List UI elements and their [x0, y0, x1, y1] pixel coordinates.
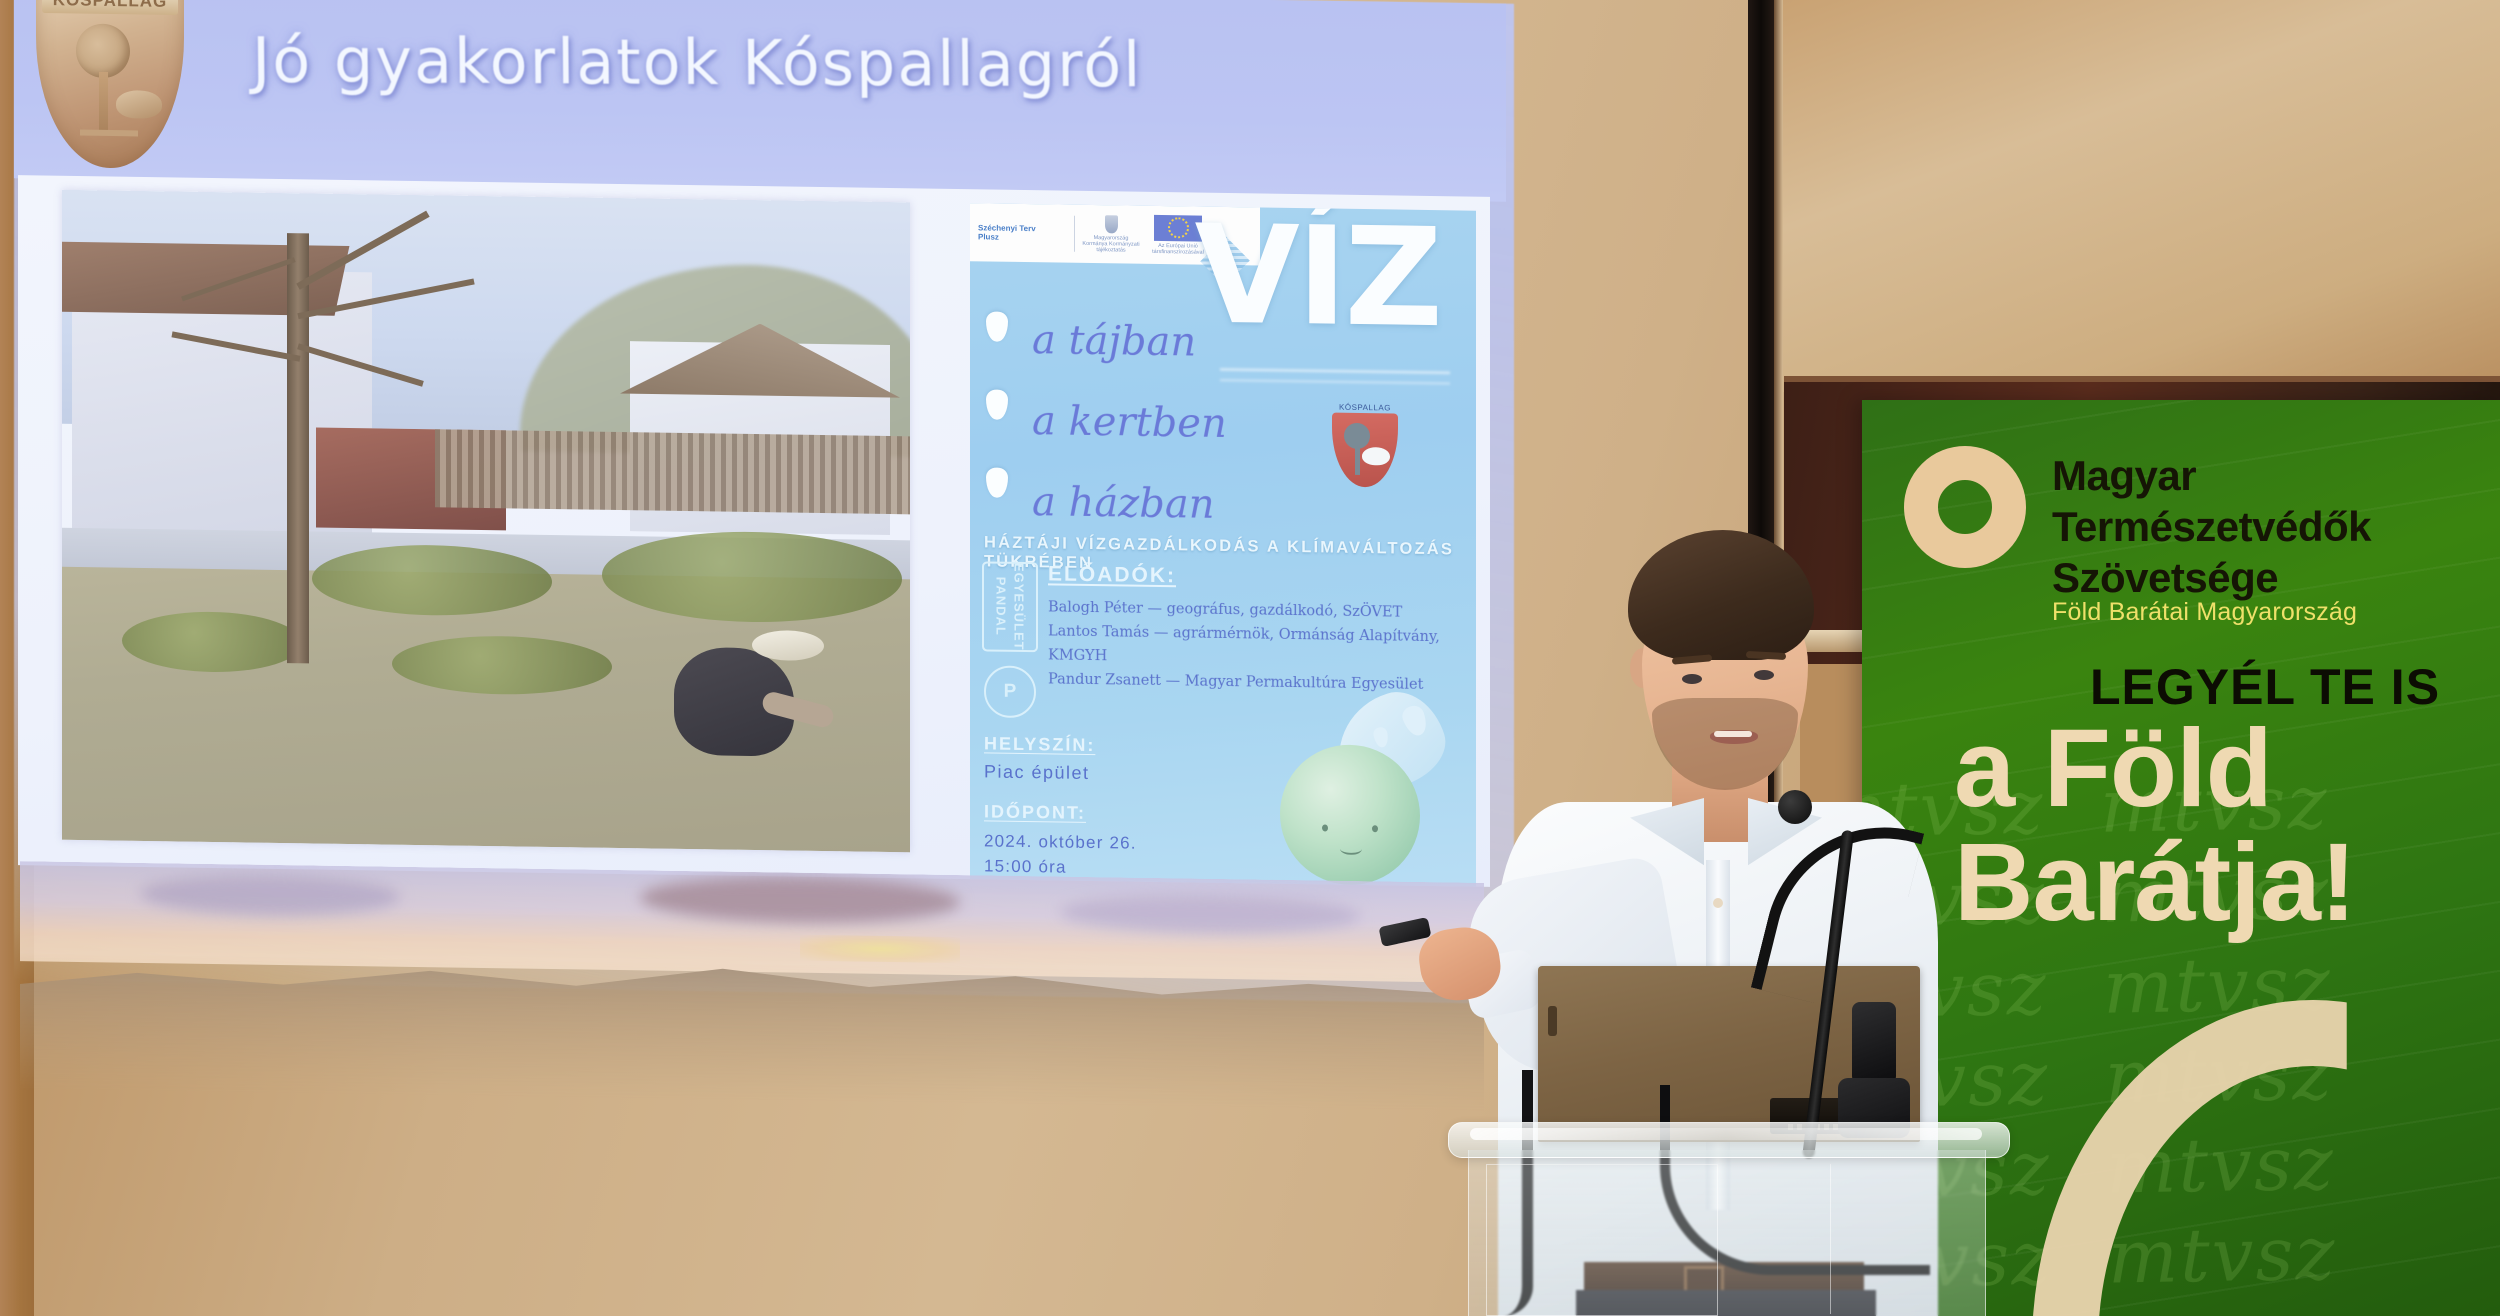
banner-organization-name: Magyar Természetvédők Szövetsége	[2052, 450, 2371, 604]
screenshot-root: KÓSPALLAG Jó gyakorlatok Kóspallagról	[0, 0, 2500, 1316]
presenter-teeth	[1714, 731, 1752, 737]
slide-photo-garden	[62, 190, 910, 853]
poster-date-value: 2024. október 26. 15:00 óra	[984, 829, 1137, 881]
coat-of-arms-base	[80, 130, 138, 137]
banner-org-line1: Magyar	[2052, 450, 2371, 501]
poster-headline: VÍZ	[1195, 207, 1440, 349]
coat-of-arms-label: KÓSPALLAG	[42, 0, 178, 15]
presenter-hair	[1628, 530, 1814, 660]
poster-bullet-list: a tájban a kertben a házban	[1032, 300, 1227, 546]
presenter-eye	[1682, 674, 1702, 684]
photo-fence	[435, 429, 910, 514]
earth-eye	[1322, 824, 1328, 831]
poster-speakers-label: ELŐADÓK:	[1048, 562, 1176, 588]
water-drop-icon	[986, 389, 1008, 419]
poster-kospallag-crest: KÓSPALLAG	[1332, 405, 1398, 488]
kospallag-coat-of-arms-icon: KÓSPALLAG	[36, 0, 184, 169]
banner-slogan-line2: Barátja!	[1954, 826, 2356, 940]
podium-shelf-left	[1486, 1164, 1718, 1316]
poster-water-wave-decoration	[1220, 361, 1450, 398]
wall-upper-right	[1782, 0, 2500, 392]
poster-bullet-item: a tájban	[1032, 300, 1227, 384]
slide-content-area: Széchenyi Terv Plusz Magyarország Kormán…	[18, 175, 1490, 887]
presenter-shirt-button	[1713, 898, 1723, 908]
banner-org-line2: Természetvédők	[2052, 501, 2371, 552]
logo-magyarorszag-kormanya: Magyarország Kormánya Kormányzati tájéko…	[1081, 215, 1141, 254]
poster-venue-value: Piac épület	[984, 761, 1090, 784]
landscape-sun-glow	[800, 935, 960, 963]
presenter-eye	[1754, 670, 1774, 680]
logo-permakultura: P	[984, 665, 1036, 718]
poster-crest-label: KÓSPALLAG	[1332, 403, 1398, 413]
logo-hu-caption: Magyarország Kormánya Kormányzati tájéko…	[1081, 235, 1141, 254]
banner-org-line3: Szövetsége	[2052, 552, 2371, 603]
slide-landscape-footer	[20, 861, 1484, 1113]
pandal-logo-text-b: EGYESÜLET	[1012, 563, 1027, 651]
podium-shelf-right	[1830, 1164, 1981, 1314]
poster-date-label: IDŐPONT:	[984, 801, 1086, 824]
logo-pandal-egyesulet: PANDAL EGYESÜLET	[982, 561, 1038, 652]
eu-stars-icon	[1168, 218, 1189, 239]
microphone-capsule-icon	[1778, 790, 1812, 824]
poster-crest-sheep-icon	[1362, 447, 1390, 465]
hungary-crest-icon	[1105, 215, 1118, 233]
banner-slogan-large: a Föld Barátja!	[1954, 712, 2356, 941]
poster-date-line1: 2024. október 26.	[984, 829, 1137, 856]
logo-szechenyi-terv-plusz: Széchenyi Terv Plusz	[978, 215, 1068, 250]
podium-edge-highlight	[1470, 1128, 1982, 1140]
earth-smile	[1340, 843, 1362, 855]
logo-divider	[1074, 216, 1075, 252]
earth-eye	[1372, 825, 1378, 832]
coat-of-arms-trunk	[99, 72, 108, 134]
pandal-logo-text-a: PANDAL	[994, 577, 1009, 636]
photo-tree-trunk	[287, 233, 309, 663]
slide-title: Jó gyakorlatok Kóspallagról	[252, 24, 1143, 102]
logo-szt-line2: Plusz	[978, 232, 1068, 243]
poster-droplet-icons	[986, 311, 1008, 545]
water-drop-icon	[986, 311, 1008, 341]
water-drop-icon	[986, 467, 1008, 497]
microphone-body	[1852, 1002, 1896, 1084]
coat-of-arms-sheep-icon	[116, 90, 162, 119]
banner-slogan-line1: a Föld	[1954, 712, 2356, 826]
poster-crest-trunk	[1355, 445, 1360, 475]
banner-organization-subtitle: Föld Barátai Magyarország	[2052, 598, 2357, 627]
laptop-logo-mark	[1548, 1006, 1557, 1036]
coat-of-arms-tree-icon	[76, 23, 130, 78]
poster-bullet-item: a kertben	[1032, 381, 1227, 465]
poster-venue-label: HELYSZÍN:	[984, 733, 1095, 756]
